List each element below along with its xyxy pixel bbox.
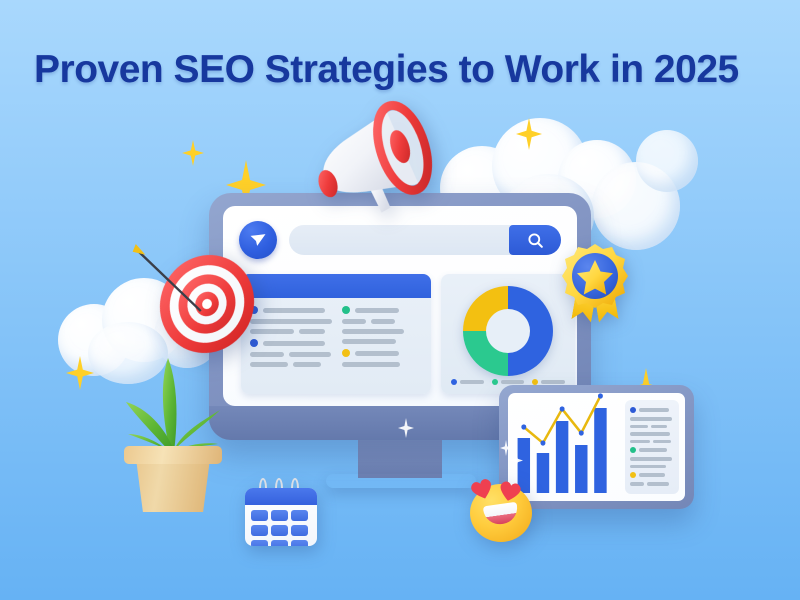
donut-chart-card: [441, 274, 575, 394]
list-item: [342, 362, 422, 367]
tablet-side-panel: [625, 400, 679, 494]
illustration-canvas: Proven SEO Strategies to Work in 2025: [0, 0, 800, 600]
calendar-cell: [251, 525, 268, 536]
list-item: [342, 306, 422, 314]
monitor-stand-neck: [358, 438, 442, 478]
award-badge-icon: [560, 243, 632, 325]
potted-plant-icon: [112, 352, 232, 512]
list-column-left: [250, 306, 332, 367]
calendar-header: [245, 488, 317, 505]
paper-plane-icon[interactable]: [239, 221, 277, 259]
page-title: Proven SEO Strategies to Work in 2025: [34, 48, 774, 92]
card-header-bar: [241, 274, 431, 298]
tablet-screen: [508, 393, 685, 501]
calendar-icon: [245, 478, 317, 546]
magnifier-icon: [526, 231, 545, 250]
plant-pot-rim: [124, 446, 222, 464]
sparkle-star-small-left: [182, 140, 204, 166]
list-item: [630, 457, 674, 461]
calendar-cell: [291, 540, 308, 546]
calendar-cell: [271, 540, 288, 546]
calendar-cell: [251, 510, 268, 521]
heart-eye-right: [496, 478, 524, 505]
list-item: [630, 425, 674, 429]
bar-5: [594, 408, 606, 493]
list-item: [250, 339, 332, 347]
calendar-cell: [291, 510, 308, 521]
content-list-card: [241, 274, 431, 394]
list-item: [342, 339, 422, 344]
list-item: [342, 319, 422, 324]
calendar-grid: [251, 510, 308, 546]
list-item: [630, 432, 674, 436]
list-item: [630, 447, 674, 453]
list-item: [630, 417, 674, 421]
calendar-cell: [271, 510, 288, 521]
calendar-cell: [271, 525, 288, 536]
legend-entry: [451, 379, 484, 385]
list-item: [250, 352, 332, 357]
list-item: [630, 407, 674, 413]
bar-4: [575, 445, 587, 493]
bar-3: [556, 421, 568, 493]
list-item: [630, 465, 674, 469]
calendar-body: [245, 488, 317, 546]
donut-chart-hole: [486, 309, 530, 353]
browser-toolbar: [239, 220, 561, 260]
search-button[interactable]: [509, 225, 561, 255]
list-item: [630, 440, 674, 444]
monitor-screen: [223, 206, 577, 406]
list-item: [342, 349, 422, 357]
heart-eyes-emoji: [468, 478, 534, 542]
calendar-cell: [251, 540, 268, 546]
list-item: [250, 362, 332, 367]
list-item: [342, 329, 422, 334]
list-item: [630, 472, 674, 478]
bar-2: [537, 453, 549, 493]
list-item: [250, 306, 332, 314]
list-item: [630, 482, 674, 486]
list-column-right: [342, 306, 422, 367]
monitor-stand-base: [326, 474, 476, 488]
calendar-cell: [291, 525, 308, 536]
